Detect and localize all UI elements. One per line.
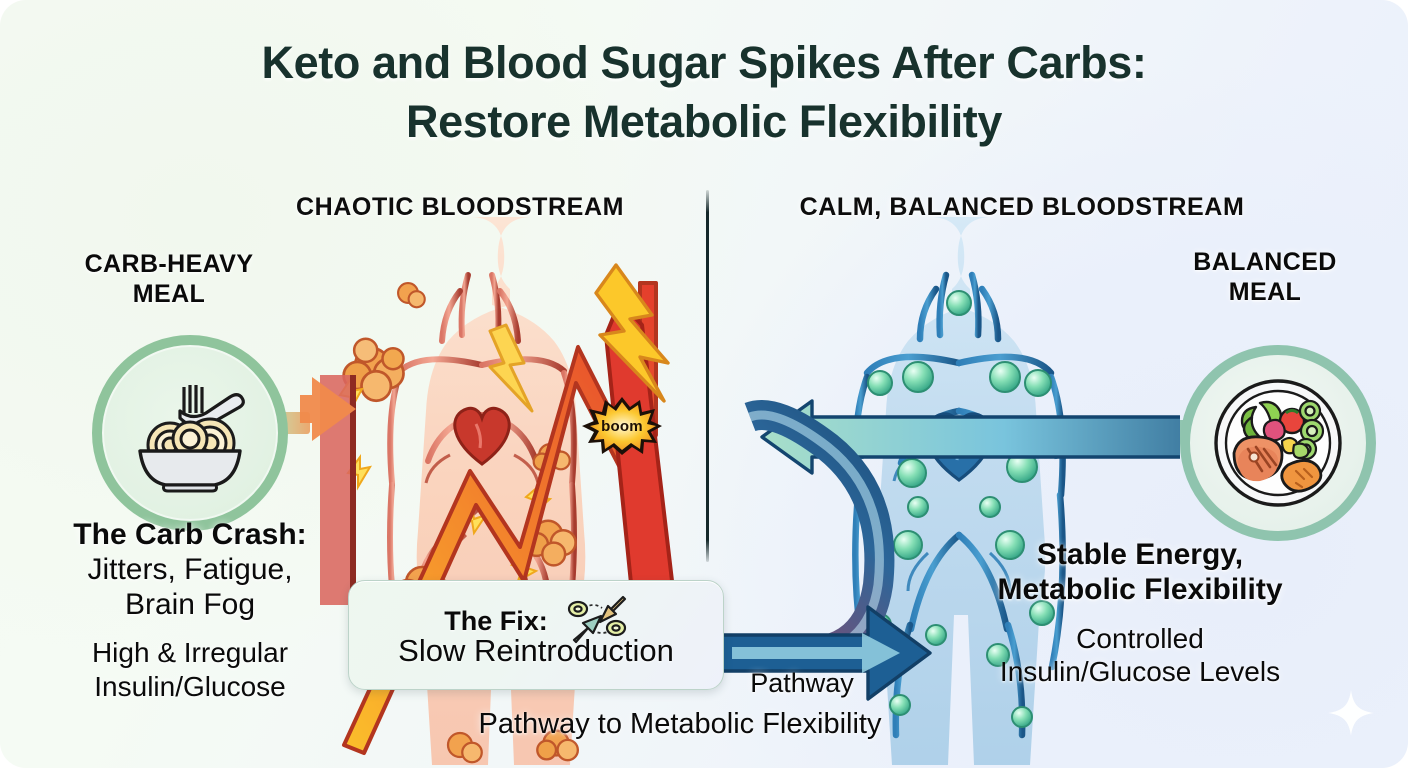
stable-energy-foot-line1: Controlled bbox=[940, 622, 1340, 656]
carb-crash-text-block: The Carb Crash: Jitters, Fatigue, Brain … bbox=[28, 518, 352, 704]
carb-crash-heading: The Carb Crash: bbox=[28, 518, 352, 553]
page-title: Keto and Blood Sugar Spikes After Carbs:… bbox=[0, 34, 1408, 151]
infographic-canvas: Keto and Blood Sugar Spikes After Carbs:… bbox=[0, 0, 1408, 768]
stable-energy-text-block: Stable Energy, Metabolic Flexibility Con… bbox=[940, 538, 1340, 689]
noodle-bowl-icon bbox=[102, 345, 278, 521]
carb-meal-circle bbox=[92, 335, 288, 531]
carb-crash-foot-line2: Insulin/Glucose bbox=[28, 670, 352, 704]
title-line-2: Restore Metabolic Flexibility bbox=[0, 93, 1408, 152]
stable-energy-foot-line2: Insulin/Glucose Levels bbox=[940, 655, 1340, 689]
carb-crash-sub-line2: Brain Fog bbox=[28, 588, 352, 623]
carb-crash-sub-line1: Jitters, Fatigue, bbox=[28, 553, 352, 588]
balanced-meal-label-line2: MEAL bbox=[1229, 278, 1301, 306]
sparkle-icon bbox=[1326, 688, 1376, 738]
balanced-meal-circle bbox=[1180, 345, 1376, 541]
stable-energy-heading-line1: Stable Energy, bbox=[940, 538, 1340, 573]
the-fix-subtitle: Slow Reintroduction bbox=[349, 633, 723, 669]
balanced-plate-icon bbox=[1190, 355, 1366, 531]
carb-meal-label: CARB-HEAVY MEAL bbox=[40, 250, 298, 309]
title-line-1: Keto and Blood Sugar Spikes After Carbs: bbox=[262, 37, 1147, 88]
the-fix-callout[interactable]: The Fix: bbox=[348, 580, 724, 690]
balanced-meal-label-line1: BALANCED bbox=[1193, 248, 1336, 276]
carb-crash-foot-line1: High & Irregular bbox=[28, 636, 352, 670]
carb-meal-label-line1: CARB-HEAVY bbox=[85, 250, 254, 278]
boom-label: boom bbox=[601, 418, 643, 435]
stable-energy-heading-line2: Metabolic Flexibility bbox=[940, 573, 1340, 608]
pathway-short-label: Pathway bbox=[722, 668, 882, 699]
carb-meal-label-line2: MEAL bbox=[133, 280, 205, 308]
pathway-full-label: Pathway to Metabolic Flexibility bbox=[400, 708, 960, 741]
